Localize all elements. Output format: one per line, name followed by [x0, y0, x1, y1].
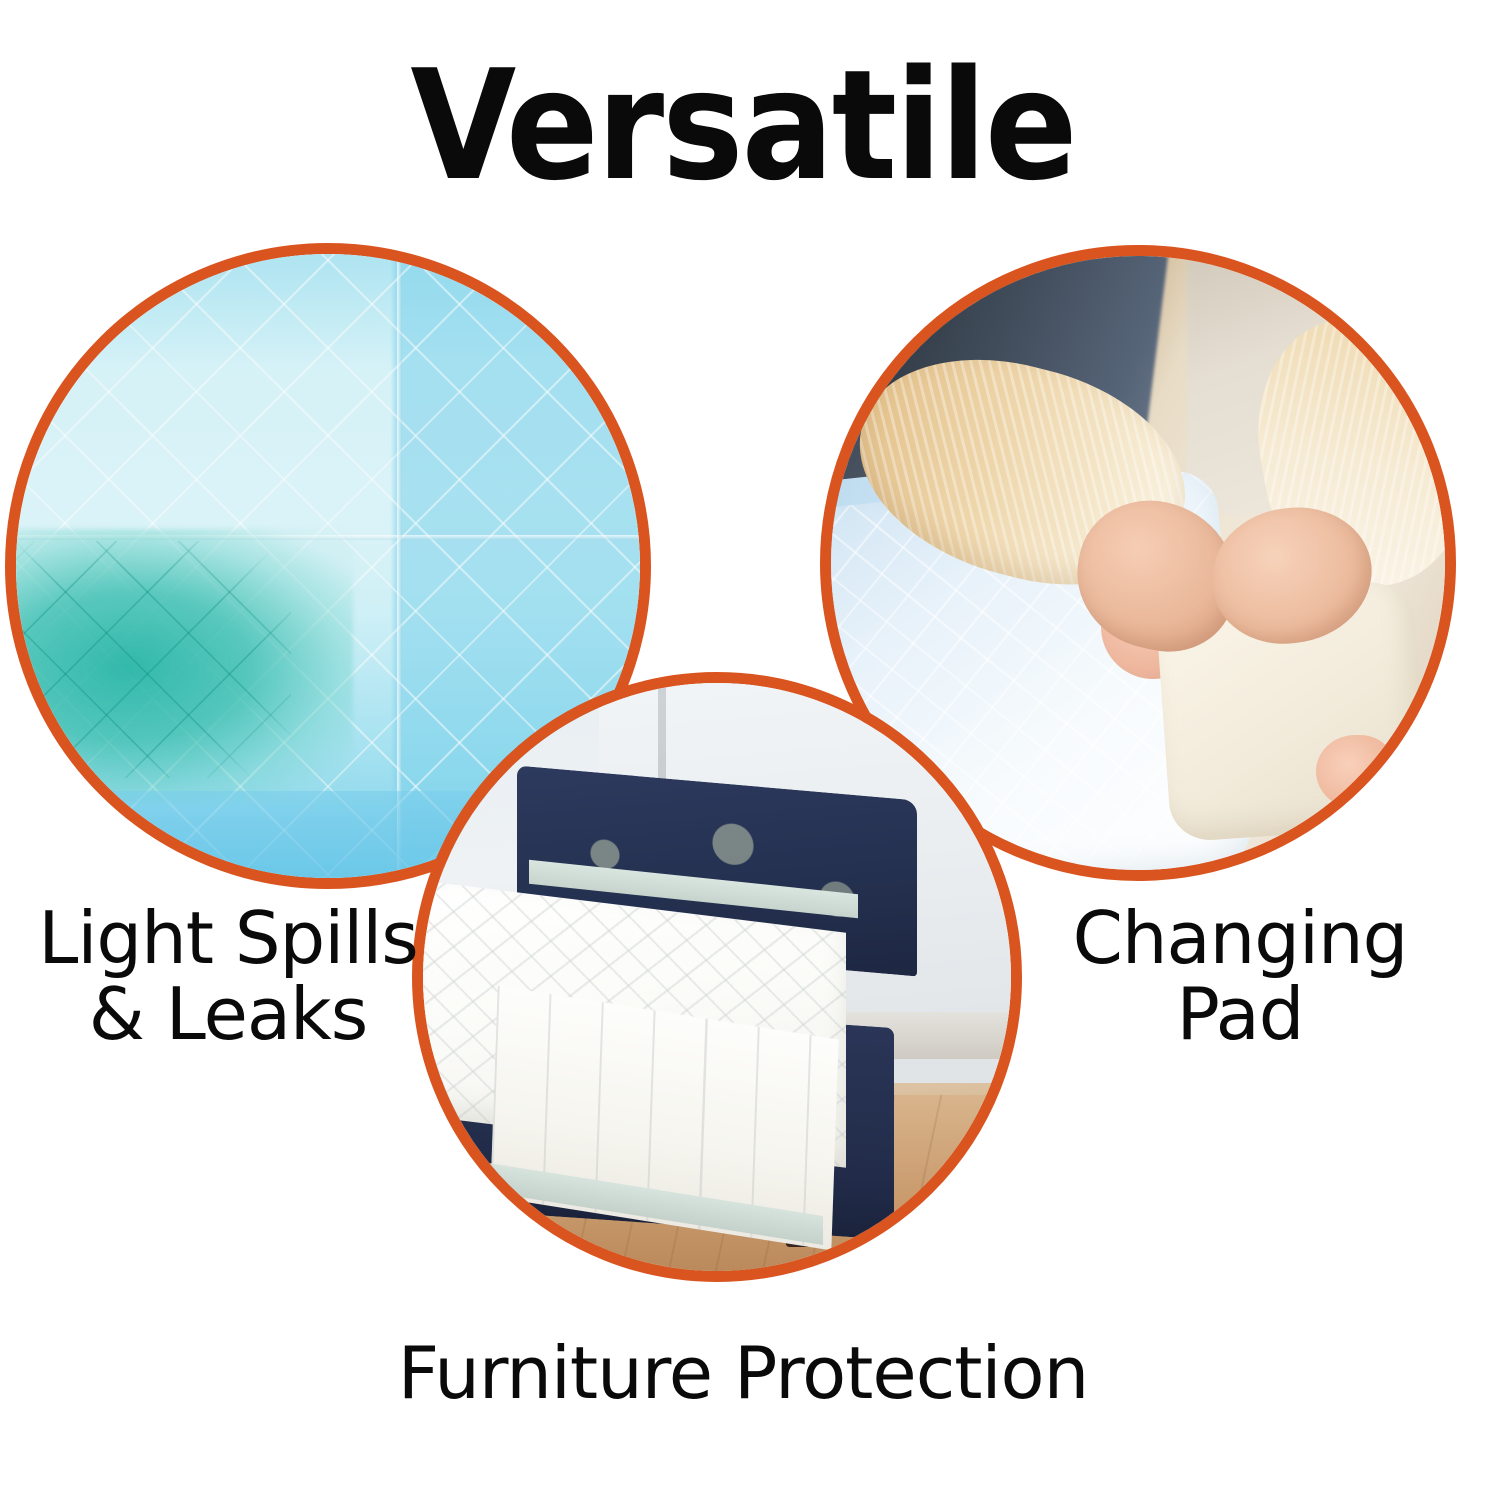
liquid-absorption-stain-texture — [16, 541, 291, 778]
baby-foot — [1316, 735, 1396, 809]
furniture-photo — [423, 683, 1011, 1271]
page-title: Versatile — [0, 50, 1486, 202]
feature-label-changing-pad: Changing Pad — [1030, 900, 1450, 1053]
feature-image-furniture-protection — [412, 672, 1022, 1282]
feature-label-light-spills-leaks: Light Spills & Leaks — [18, 900, 438, 1053]
feature-label-furniture-protection: Furniture Protection — [343, 1335, 1143, 1411]
pad-fold-vertical — [397, 254, 402, 878]
infographic-canvas: Versatile — [0, 0, 1486, 1500]
